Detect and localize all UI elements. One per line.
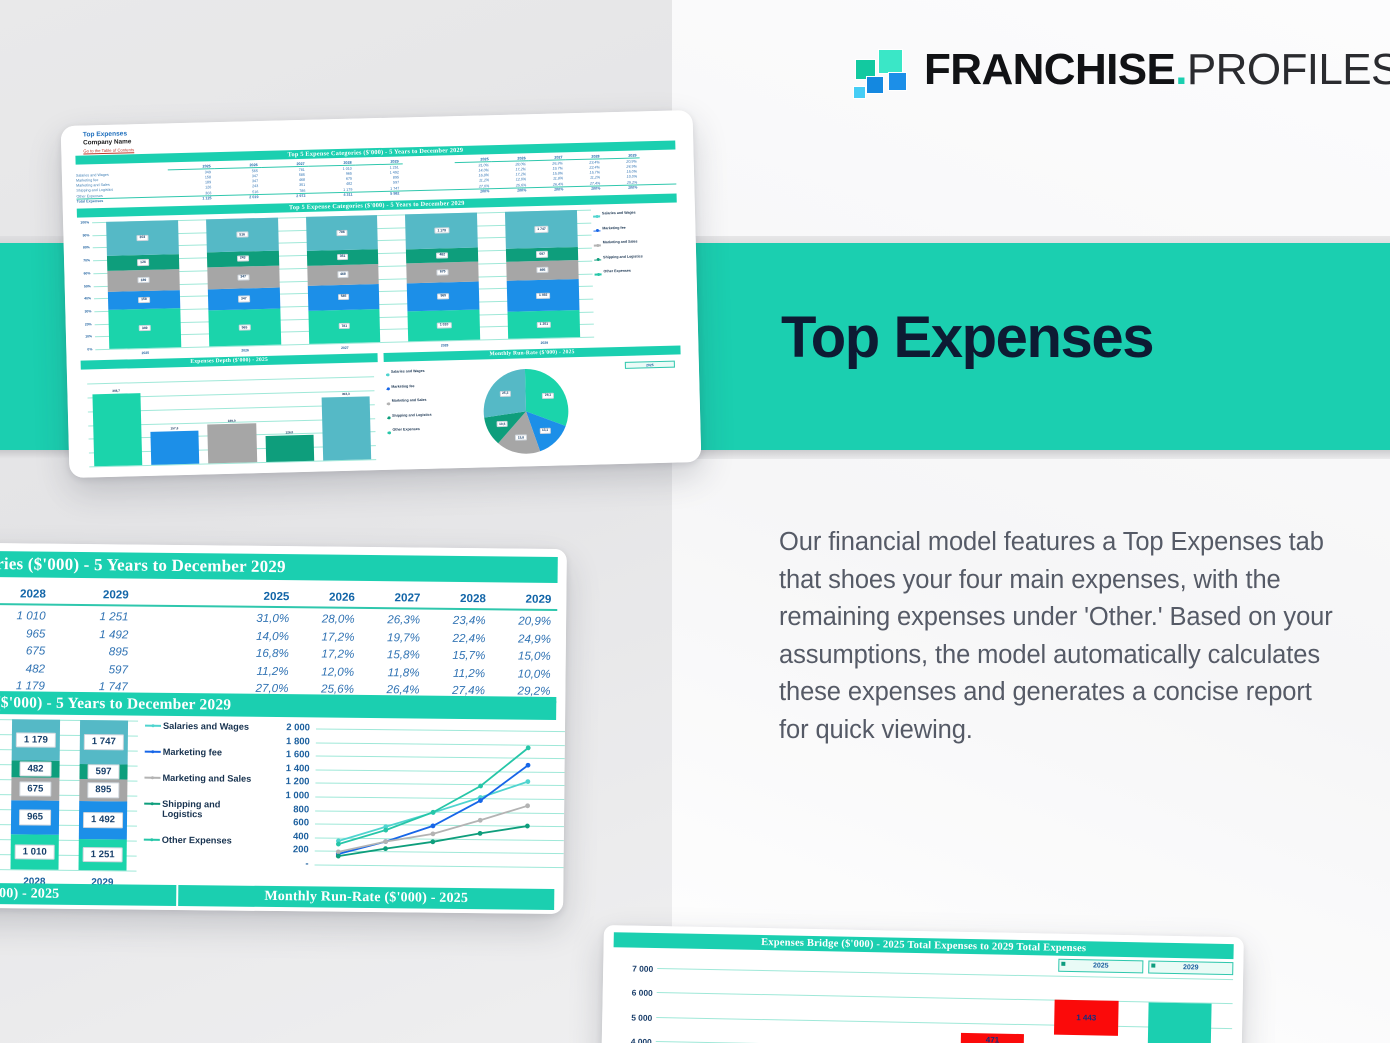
- cell-percent: 14,0%: [229, 629, 295, 643]
- legend-label: Marketing and Sales: [392, 398, 427, 403]
- mid-foot-runrate-bar: Monthly Run-Rate ($'000) - 2025: [178, 885, 554, 910]
- cell-percent: 15,0%: [491, 650, 557, 664]
- legend-label: Shipping and Logistics: [603, 254, 643, 259]
- y-axis-label: 2 000: [260, 722, 310, 734]
- bar-value-label: 158: [138, 297, 150, 303]
- y-axis-label: 30%: [84, 309, 91, 313]
- gridline: [656, 1017, 1232, 1029]
- bar-segment: 1 747: [505, 210, 578, 249]
- screenshot-card-top-expenses[interactable]: Top Expenses Company Name Go to the Tabl…: [61, 110, 702, 478]
- gridline: [87, 376, 374, 384]
- bar-segment: 303: [106, 220, 179, 256]
- legend-item: Shipping and Logistics: [387, 412, 449, 419]
- bar-value-label: 675: [437, 269, 449, 275]
- bar-value-label: 781: [338, 323, 350, 329]
- legend-item: Other Expenses: [594, 268, 676, 276]
- mid-pct-2027: 2027: [361, 590, 427, 604]
- y-axis-label: 90%: [83, 233, 90, 237]
- x-axis-label: 2025: [95, 350, 195, 357]
- legend-marker-icon: [594, 244, 601, 246]
- y-axis-label: 80%: [83, 246, 90, 250]
- y-axis-label: 1 800: [260, 735, 310, 747]
- legend-label: Shipping and Logistics: [392, 412, 432, 417]
- spreadsheet-mid: Top 5 Expense Categories ($'000) - 5 Yea…: [0, 541, 567, 914]
- bar-segment: 189: [107, 269, 179, 292]
- toc-link[interactable]: Go to the Table of Contents: [83, 147, 134, 153]
- stacked-bar-chart-large: 3491581891263035653473472435167815854683…: [0, 717, 138, 891]
- cell-percent: 11,2%: [426, 666, 492, 680]
- pie-value-label: 25,3: [499, 391, 511, 397]
- cell-value: 965: [0, 627, 55, 641]
- bar-value-label: 347: [238, 296, 250, 302]
- bar-segment: 351: [306, 249, 378, 266]
- bar-value-label: 468: [337, 271, 349, 277]
- bar-segment: 675: [407, 261, 479, 283]
- bar: [208, 423, 257, 463]
- cell-percent: 11,2%: [229, 664, 295, 678]
- y-axis-label: 100%: [80, 220, 89, 224]
- bar-segment: 597: [79, 764, 128, 780]
- legend-item: Salaries and Wages: [145, 721, 255, 732]
- logo-word-secondary: PROFILES: [1187, 45, 1390, 94]
- cell-percent: 15,7%: [426, 649, 492, 663]
- mid-col-2029: 2029: [56, 587, 139, 601]
- cell-percent: 11,8%: [360, 666, 426, 680]
- logo-square-3: [866, 76, 884, 94]
- stacked-legend-small: Salaries and WagesMarketing feeMarketing…: [593, 210, 677, 285]
- legend-label: Marketing and Sales: [603, 239, 638, 244]
- gridline: [657, 992, 1233, 1004]
- bar-segment: 675: [11, 777, 60, 801]
- legend-marker-icon: [144, 839, 160, 841]
- bar-segment: 895: [506, 260, 578, 281]
- legend-item: Marketing fee: [145, 747, 255, 758]
- bar-value-label: 895: [87, 782, 119, 798]
- line-data-point: [430, 839, 435, 844]
- bridge-key-2029: 2029: [1148, 960, 1233, 975]
- y-axis-label: 1 400: [260, 763, 310, 775]
- y-axis-label: 800: [259, 803, 309, 815]
- cell-percent: 26,3%: [361, 613, 427, 627]
- bar-value-label: 516: [236, 232, 248, 238]
- background-right-panel: [672, 0, 1390, 1043]
- waterfall-delta-bar: 1 443: [1054, 1000, 1118, 1036]
- legend-item: Marketing and Sales: [387, 397, 449, 404]
- stacked-bar-column: 1 0109656754821 179: [10, 719, 61, 870]
- bar-segment: 585: [307, 284, 379, 311]
- cell-percent: 24,9%: [491, 632, 557, 646]
- bar-value-label: 1 251: [537, 321, 552, 328]
- monthly-runrate-chart: Salaries and WagesMarketing feeMarketing…: [384, 358, 683, 461]
- cell-percent: 100%: [566, 187, 603, 192]
- legend-item: Marketing and Sales: [144, 773, 254, 784]
- line-chart-large: 2 0001 8001 6001 4001 2001 0008006004002…: [256, 722, 567, 914]
- cell-percent: 31,0%: [230, 612, 296, 626]
- cell-value: 2 019: [215, 195, 262, 200]
- bar-segment: 1 010: [10, 834, 59, 870]
- cell-value: 1 492: [55, 627, 138, 641]
- bar-value-label: 1 179: [16, 732, 56, 748]
- bar-segment: 482: [11, 760, 60, 777]
- legend-marker-icon: [387, 417, 390, 419]
- bar-segment: 1 492: [507, 279, 580, 312]
- legend-label: Marketing and Sales: [162, 773, 251, 784]
- y-axis-label: 70%: [83, 258, 90, 262]
- legend-item: Marketing and Sales: [594, 239, 676, 247]
- cell-value: 675: [0, 644, 55, 658]
- line-data-point: [525, 803, 530, 808]
- y-axis-label: 5 000: [612, 1012, 652, 1023]
- legend-marker-icon: [144, 777, 160, 779]
- spreadsheet-bottom: Expenses Bridge ($'000) - 2025 Total Exp…: [600, 925, 1244, 1043]
- bar: [92, 393, 142, 467]
- logo-wordmark: FRANCHISE.PROFILES: [924, 48, 1390, 92]
- legend-item: Shipping and Logistics: [144, 799, 254, 820]
- waterfall-value-label: 471: [986, 1035, 1000, 1043]
- bar-segment: 1 179: [11, 719, 60, 761]
- legend-item: Salaries and Wages: [593, 210, 675, 218]
- mid-col-2028: 2028: [0, 586, 56, 600]
- bar-segment: 1 179: [405, 213, 478, 250]
- bar-segment: 965: [407, 281, 480, 311]
- legend-label: Salaries and Wages: [602, 211, 636, 216]
- slide-canvas: FRANCHISE.PROFILES Top Expenses Our fina…: [0, 0, 1390, 1043]
- y-axis-label: 7 000: [613, 963, 653, 974]
- y-axis-label: -: [259, 858, 309, 870]
- bar-value-label: 1 747: [84, 734, 124, 750]
- cell-percent: 16,8%: [229, 647, 295, 661]
- y-axis-label: 600: [259, 817, 309, 829]
- y-axis-label: 1 600: [260, 749, 310, 761]
- bar-segment: 349: [108, 308, 181, 349]
- legend-label: Marketing fee: [391, 384, 414, 389]
- cell-percent: 12,0%: [295, 665, 361, 679]
- y-axis-label: 0%: [87, 347, 92, 351]
- bar-value-label: 243: [237, 255, 249, 261]
- mid-foot-depth-bar: ses Depth ($'000) - 2025: [0, 881, 176, 906]
- bar-segment: 482: [406, 247, 478, 263]
- line-data-point: [478, 818, 483, 823]
- line-data-point: [383, 839, 388, 844]
- bar-value-label: 351: [337, 254, 349, 260]
- chart-legend-large: Salaries and WagesMarketing feeMarketing…: [143, 721, 255, 892]
- y-axis-label: 10%: [85, 335, 92, 339]
- line-data-point: [383, 846, 388, 851]
- legend-label: Salaries and Wages: [391, 369, 425, 374]
- legend-item: Marketing fee: [593, 224, 675, 232]
- cell-percent: 22,4%: [426, 631, 492, 645]
- legend-label: Salaries and Wages: [163, 721, 249, 732]
- cell-percent: 10,0%: [491, 667, 557, 681]
- bar-value-label: 675: [19, 781, 51, 797]
- row-label: Total Expenses: [77, 198, 169, 204]
- logo-word-primary: FRANCHISE: [924, 45, 1175, 94]
- bridge-key-2025: 2025: [1058, 959, 1143, 974]
- pie-value-label: 15,8: [515, 435, 527, 441]
- y-axis-label: 60%: [84, 271, 91, 275]
- legend-label: Other Expenses: [162, 835, 232, 846]
- cell-percent: 17,2%: [295, 647, 361, 661]
- stacked-bar-column: 1 2511 4928955971 747: [78, 720, 129, 871]
- x-axis-label: 2028: [395, 342, 495, 349]
- page-title: Top Expenses: [781, 309, 1153, 367]
- bar-value-label: 482: [436, 252, 448, 258]
- cell-value: 1 251: [56, 610, 139, 624]
- bar-value-label: 597: [536, 251, 548, 257]
- cell-percent: 100%: [603, 186, 640, 191]
- legend-marker-icon: [145, 751, 161, 753]
- line-data-point: [525, 779, 530, 784]
- stacked-bar-column: 781585468351786: [306, 215, 381, 344]
- cell-percent: 17,2%: [295, 630, 361, 644]
- mid-pct-2028: 2028: [426, 591, 492, 605]
- bar-segment: 126: [107, 254, 179, 270]
- bar-value-label: 1 010: [15, 844, 55, 860]
- bar-value-label: 349: [139, 325, 151, 331]
- y-axis-label: 6 000: [613, 987, 653, 998]
- bar-value-label: 1 251: [83, 847, 123, 863]
- legend-marker-icon: [387, 432, 390, 434]
- mid-pct-2025: 2025: [230, 589, 296, 603]
- bar-value-label: 585: [338, 294, 350, 300]
- pie-value-label: 13,1: [539, 428, 551, 434]
- spreadsheet-top: Top Expenses Company Name Go to the Tabl…: [61, 110, 702, 478]
- pie-year-key: 2025: [625, 361, 675, 369]
- mid-table-title-bar: Top 5 Expense Categories ($'000) - 5 Yea…: [0, 549, 558, 583]
- bar: [150, 431, 199, 465]
- legend-label: Marketing fee: [602, 225, 625, 230]
- legend-label: Other Expenses: [392, 427, 419, 432]
- bar: [322, 396, 372, 460]
- cell-value: 2 972: [262, 194, 309, 199]
- cell-value: 1 010: [0, 609, 56, 623]
- cell-value: 482: [0, 662, 55, 676]
- legend-marker-icon: [595, 273, 602, 275]
- bar-segment: 965: [10, 801, 59, 835]
- stacked-bar-column: 1 0109656754821 179: [405, 213, 480, 342]
- legend-item: Shipping and Logistics: [594, 253, 676, 261]
- y-axis-label: 50%: [84, 284, 91, 288]
- cell-percent: 23,4%: [426, 614, 492, 628]
- line-data-point: [525, 824, 530, 829]
- legend-label: Shipping and Logistics: [162, 799, 254, 820]
- cell-percent: 100%: [529, 187, 566, 192]
- bar-value-label: 1 747: [534, 226, 549, 233]
- y-axis-label: 40%: [84, 297, 91, 301]
- stacked-y-axis-small: 100%90%80%70%60%50%40%30%20%10%0%: [77, 220, 93, 356]
- expenses-depth-chart: 348,7157,3189,0126,0303,3: [81, 366, 380, 469]
- cell-value: 597: [55, 662, 138, 676]
- bar-value-label: 1 492: [83, 812, 123, 828]
- bar-segment: 158: [108, 290, 180, 310]
- bar-value-label: 786: [336, 230, 348, 236]
- stacked-bar-column: 565347347243516: [206, 218, 281, 347]
- bar-segment: 597: [506, 247, 578, 262]
- bar-value-label: 965: [437, 293, 449, 299]
- y-axis-label: 20%: [85, 322, 92, 326]
- logo-square-5: [853, 86, 866, 99]
- pie-legend-small: Salaries and WagesMarketing feeMarketing…: [386, 368, 450, 442]
- sheet-title: Top Expenses: [83, 130, 134, 138]
- bar-segment: 565: [208, 309, 281, 346]
- bar-segment: 1 492: [78, 801, 127, 839]
- stacked-bar-chart-small: 100%90%80%70%60%50%40%30%20%10%0% 349158…: [77, 205, 680, 356]
- pie-value-label: 10,5: [496, 421, 508, 427]
- sheet-header-block: Top Expenses Company Name Go to the Tabl…: [83, 130, 134, 153]
- bar-segment: 895: [79, 779, 128, 802]
- bridge-legend-keys: 2025 2029: [1058, 959, 1233, 975]
- legend-marker-icon: [594, 259, 601, 261]
- mid-pct-2029: 2029: [492, 592, 558, 606]
- bar-value-label: 565: [239, 324, 251, 330]
- cell-percent: 20,9%: [492, 615, 558, 629]
- y-axis-label: 4 000: [612, 1036, 652, 1043]
- cell-value: 1 125: [168, 196, 215, 201]
- sheet-company: Company Name: [83, 138, 134, 146]
- brand-logo: FRANCHISE.PROFILES: [851, 38, 1351, 102]
- legend-marker-icon: [386, 374, 389, 376]
- stacked-bar-column: 349158189126303: [106, 220, 181, 349]
- legend-item: Marketing fee: [386, 383, 448, 390]
- legend-item: Salaries and Wages: [386, 368, 448, 375]
- cell-value: 5 982: [356, 192, 403, 197]
- screenshot-card-expenses-bridge[interactable]: Expenses Bridge ($'000) - 2025 Total Exp…: [600, 925, 1244, 1043]
- logo-dot: .: [1175, 45, 1187, 94]
- bar-segment: 468: [307, 264, 379, 286]
- bar-segment: 781: [308, 309, 381, 344]
- bar-segment: 786: [306, 215, 379, 250]
- waterfall-value-label: 1 443: [1076, 1014, 1096, 1023]
- cell-value: 895: [55, 645, 138, 659]
- legend-marker-icon: [593, 215, 600, 217]
- x-axis-label: 2029: [494, 340, 594, 347]
- pie-value-labels: 29,113,115,810,525,3: [479, 364, 573, 458]
- cell-percent: 100%: [455, 189, 492, 194]
- legend-marker-icon: [145, 725, 161, 727]
- legend-marker-icon: [593, 230, 600, 232]
- x-axis-label: 2027: [295, 345, 395, 352]
- bridge-title-bar: Expenses Bridge ($'000) - 2025 Total Exp…: [614, 932, 1234, 959]
- legend-label: Other Expenses: [603, 269, 630, 274]
- cell-percent: 28,0%: [295, 612, 361, 626]
- stacked-bar-column: 1 2511 4928955971 747: [505, 210, 580, 339]
- bar-value-label: 1 010: [437, 322, 452, 329]
- bar-segment: 1 251: [508, 310, 580, 338]
- logo-squares-icon: [851, 42, 907, 98]
- cell-percent: 100%: [492, 188, 529, 193]
- bar-value-label: 126: [137, 259, 149, 265]
- bridge-plot-area: 7 0006 0005 0004 0007064711 443: [610, 967, 1233, 1043]
- waterfall-delta-bar: 471: [961, 1033, 1025, 1043]
- bar-segment: 347: [208, 287, 280, 311]
- bar-value-label: 347: [237, 274, 249, 280]
- pie-value-label: 29,1: [542, 392, 554, 398]
- bar-value-label: 189: [138, 277, 150, 283]
- bar-value-label: 1 492: [536, 292, 551, 299]
- cell-percent: 15,8%: [360, 648, 426, 662]
- bar-segment: 1 747: [79, 720, 128, 764]
- bar-segment: 1 010: [408, 310, 481, 341]
- y-axis-label: 1 200: [259, 776, 309, 788]
- body-paragraph: Our financial model features a Top Expen…: [779, 524, 1339, 750]
- bar-value-label: 1 179: [434, 228, 449, 235]
- bar-segment: 516: [206, 218, 279, 252]
- legend-marker-icon: [387, 403, 390, 405]
- bar: [265, 435, 314, 462]
- bar-segment: 1 251: [78, 839, 127, 871]
- legend-item: Other Expenses: [387, 426, 449, 433]
- legend-marker-icon: [386, 388, 389, 390]
- bar-value-label: 597: [87, 764, 119, 780]
- logo-square-4: [888, 72, 907, 91]
- logo-square-2: [878, 49, 903, 74]
- bar-value-label: 895: [537, 267, 549, 273]
- waterfall-total-bar: [1145, 1002, 1211, 1043]
- legend-marker-icon: [144, 803, 160, 805]
- line-series-svg: [315, 728, 552, 866]
- y-axis-label: 200: [259, 844, 309, 856]
- x-axis-label: 2026: [195, 347, 295, 354]
- bar-segment: 243: [207, 250, 279, 267]
- cell-value: 4 311: [309, 193, 356, 198]
- line-data-point: [478, 831, 483, 836]
- screenshot-card-expense-categories[interactable]: Top 5 Expense Categories ($'000) - 5 Yea…: [0, 541, 567, 914]
- bar-value-label: 965: [19, 810, 51, 826]
- legend-label: Marketing fee: [163, 747, 222, 758]
- bar-value-label: 482: [19, 761, 51, 777]
- y-axis-label: 1 000: [259, 790, 309, 802]
- legend-item: Other Expenses: [144, 835, 254, 846]
- line-data-point: [430, 831, 435, 836]
- cell-percent: 19,7%: [360, 631, 426, 645]
- bar-value-label: 303: [136, 235, 148, 241]
- mid-pct-2026: 2026: [295, 590, 361, 604]
- y-axis-label: 400: [259, 831, 309, 843]
- bar-segment: 347: [207, 265, 279, 289]
